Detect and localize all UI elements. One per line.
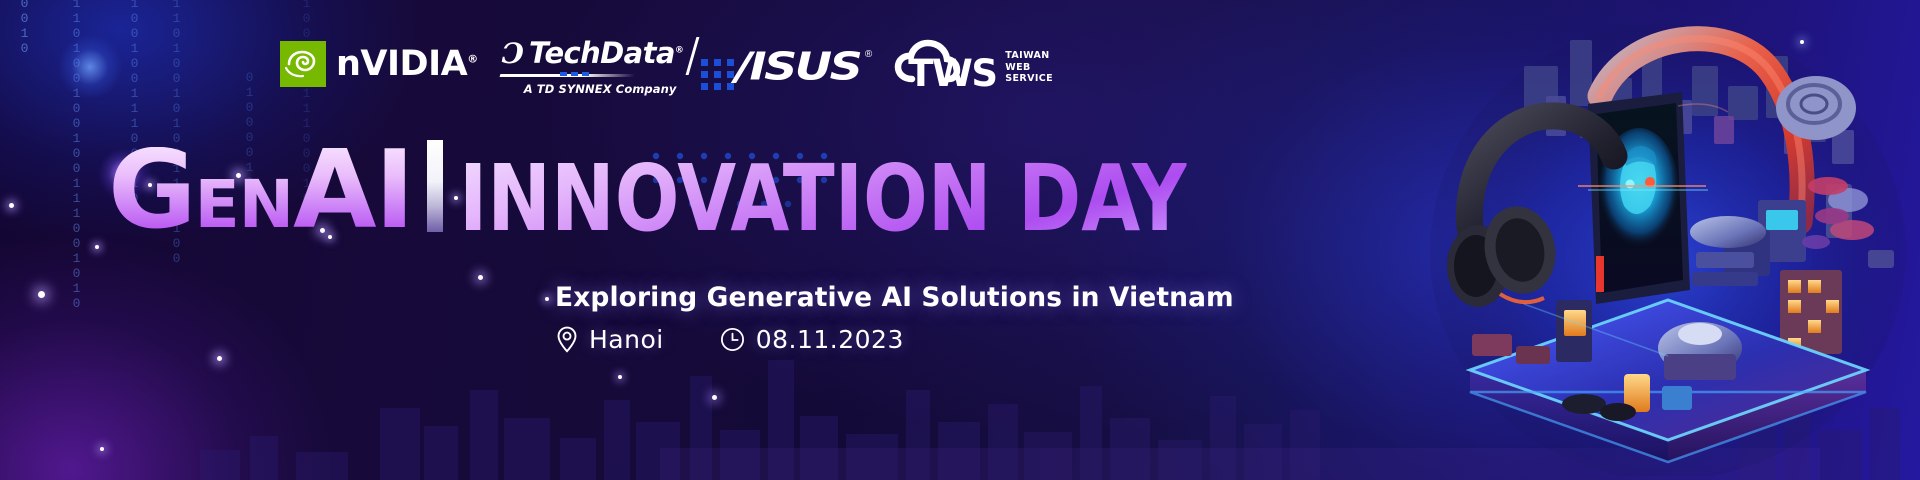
ai-city-illustration: [1428, 4, 1908, 476]
genai-en: EN: [195, 178, 293, 232]
tws-tagline-line-3: SERVICE: [1005, 74, 1053, 85]
hero-illustration: [1428, 4, 1908, 476]
asus-wordmark: /ISUS: [735, 47, 860, 86]
innovation-day-title: INNOVATION DAY: [459, 161, 1187, 236]
glow-halo: [58, 35, 122, 99]
glow-star: [712, 395, 717, 400]
glow-star: [545, 297, 549, 301]
glow-star: [217, 356, 222, 361]
glow-star: [478, 275, 483, 280]
tws-wordmark: TWS: [908, 55, 996, 92]
event-meta-row: Hanoi 08.11.2023: [556, 325, 904, 354]
tech-data-wordmark: TechData®: [529, 39, 683, 68]
event-location: Hanoi: [556, 325, 664, 354]
genai-ai: AI: [293, 147, 413, 236]
tech-data-wordmark-text: TechData: [529, 36, 675, 70]
tech-data-main: Ɔ TechData®: [502, 39, 684, 68]
asus-dot-accents: [701, 59, 734, 90]
glow-star: [100, 447, 104, 451]
event-location-text: Hanoi: [589, 325, 664, 354]
tech-data-slash: [686, 37, 700, 75]
partner-logo-row: nVIDIA® Ɔ TechData® A TD SYNNEX Company …: [280, 33, 1053, 91]
logo-nvidia[interactable]: nVIDIA®: [280, 41, 478, 87]
genai-lockup: G EN AI: [108, 147, 413, 236]
glow-star: [38, 291, 45, 298]
headline-divider: [427, 140, 443, 232]
genai-g: G: [108, 147, 195, 236]
logo-tws[interactable]: TWS TAIWAN WEB SERVICE: [892, 39, 1053, 91]
nvidia-wordmark-text: nVIDIA: [336, 44, 467, 84]
tws-tagline: TAIWAN WEB SERVICE: [1005, 51, 1053, 85]
glow-star: [95, 245, 99, 249]
glow-star: [9, 203, 14, 208]
logo-tech-data[interactable]: Ɔ TechData® A TD SYNNEX Company: [502, 39, 684, 96]
tech-data-d-icon: Ɔ: [502, 40, 524, 68]
asus-registered-mark: ®: [865, 49, 872, 60]
event-date: 08.11.2023: [720, 325, 904, 354]
clock-icon: [720, 327, 745, 352]
nvidia-registered-mark: ®: [467, 52, 478, 65]
tws-cloud-mark: TWS: [892, 39, 1002, 91]
event-date-text: 08.11.2023: [756, 325, 904, 354]
glow-star: [618, 375, 622, 379]
event-subtitle: Exploring Generative AI Solutions in Vie…: [555, 282, 1234, 313]
nvidia-wordmark: nVIDIA®: [336, 47, 478, 82]
event-headline: G EN AI INNOVATION DAY: [108, 140, 1250, 236]
genai-innovation-day-banner: 0010 110100100100111001010 1001001110001…: [0, 0, 1920, 480]
nvidia-eye-icon: [280, 41, 326, 87]
tech-data-registered-mark: ®: [675, 45, 683, 55]
binary-stream: 0010: [18, 0, 31, 56]
tws-tagline-line-1: TAIWAN: [1005, 51, 1053, 62]
logo-asus[interactable]: /ISUS ®: [735, 43, 860, 89]
map-pin-icon: [556, 326, 578, 353]
tws-tagline-line-2: WEB: [1005, 63, 1053, 74]
tech-data-tagline: A TD SYNNEX Company: [524, 82, 677, 96]
tech-data-dot-accents: [560, 72, 589, 76]
